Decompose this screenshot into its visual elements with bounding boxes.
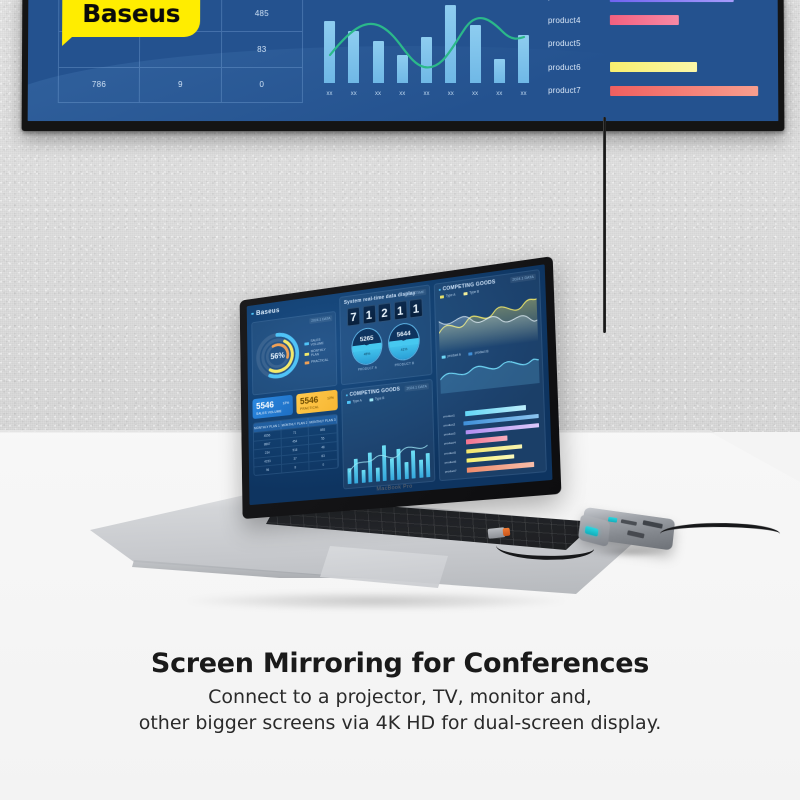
donut-value: 56%	[254, 328, 301, 383]
table-row: 78690	[58, 67, 303, 103]
hub-usb-port-small	[608, 517, 618, 523]
product-bar	[610, 86, 758, 96]
legend-label: MONTHLY PLAN	[311, 347, 334, 358]
hub-hdmi-port	[627, 530, 645, 538]
product-label: product4	[548, 16, 610, 25]
laptop-screen: Baseus	[247, 264, 553, 505]
kpi-card: 554612%PRACTICAL	[296, 390, 338, 415]
product-bar-track	[610, 15, 778, 25]
panel-badge: 2024.1 DATA	[309, 315, 332, 324]
baseus-wordmark: Baseus	[82, 0, 180, 28]
caption-line-1: Connect to a projector, TV, monitor and,	[208, 686, 592, 708]
product-bar-track	[610, 86, 778, 96]
kpi-section: 554612%SALES VOLUME554612%PRACTICAL MONT…	[252, 390, 339, 498]
legend-label: Type B	[375, 396, 385, 401]
cable-hub-to-tv	[660, 522, 780, 546]
realtime-gauges: 526545%PRODUCT A564441%PRODUCT B	[341, 320, 431, 374]
product-label: product5	[548, 39, 610, 48]
legend-label: Type A	[353, 399, 362, 404]
tv-screen: 3254858378690 Baseus xxxxxxxxxxxxxxxxxx …	[28, 0, 779, 121]
bullet-icon	[346, 394, 348, 396]
legend-item: Type B	[369, 396, 384, 402]
legend-item: PRACTICAL	[305, 357, 334, 364]
table-cell: 0	[222, 67, 303, 103]
hub-usb-a-slot	[642, 520, 662, 529]
bar-x-label: xx	[421, 91, 432, 97]
product-label: product1	[443, 412, 465, 418]
water-gauge: 526545%	[351, 326, 383, 367]
bar-x-label: xx	[324, 91, 335, 97]
donut-legend: SALES VOLUMEMONTHLY PLANPRACTICAL	[304, 336, 334, 364]
product-label: product6	[548, 63, 610, 72]
realtime-digit: 1	[362, 305, 376, 325]
hub-usb-port-lit	[585, 526, 599, 537]
laptop: Baseus	[70, 270, 670, 620]
product-label: product7	[548, 86, 610, 95]
product-bar-row: product3	[548, 0, 778, 9]
hub-card-slot	[621, 519, 637, 526]
table-cell: 83	[222, 32, 303, 67]
bar-x-label: xx	[470, 91, 481, 97]
tv-trend-line	[324, 0, 529, 83]
kpi-card: 554612%SALES VOLUME	[252, 395, 293, 419]
bullet-icon	[439, 288, 441, 290]
tv-product-bar-chart: product3product4product5product6product7	[548, 0, 778, 103]
gauge-widget: 526545%PRODUCT A	[351, 326, 383, 372]
product-label: product2	[444, 421, 464, 427]
product-label: product3	[444, 431, 466, 437]
product-bar-track	[610, 0, 778, 2]
legend-item: Type A	[347, 399, 362, 405]
product-bar	[467, 462, 534, 472]
realtime-data-panel: System real-time data display REAL-TIME …	[339, 284, 432, 385]
table-cell: 96	[254, 464, 282, 475]
product-bar-row: product6	[548, 56, 778, 80]
donut-chart: 56%	[254, 328, 301, 383]
realtime-digit: 1	[409, 298, 423, 318]
baseus-logo-badge: Baseus	[62, 0, 200, 37]
table-cell: 485	[222, 0, 303, 32]
product-label: product5	[444, 449, 466, 455]
table-cell	[140, 32, 221, 67]
product-bar-row: product5	[548, 32, 778, 55]
sales-donut-panel: 56% SALES VOLUMEMONTHLY PLANPRACTICAL 20…	[251, 311, 337, 396]
product-label: product4	[444, 440, 466, 446]
gauge-label: PRODUCT A	[352, 365, 383, 373]
caption-title: Screen Mirroring for Conferences	[0, 648, 800, 680]
bar-x-label: xx	[445, 91, 456, 97]
legend-label: PRACTICAL	[311, 358, 328, 364]
product-bar	[610, 0, 734, 2]
bar-x-label: xx	[397, 91, 408, 97]
competing-goods-right-panel: COMPETING GOODS 2024.1 DATA Type AType B	[434, 269, 547, 481]
table-cell: 9	[140, 67, 221, 103]
product-bar-row: product7	[548, 79, 778, 103]
realtime-digit: 1	[393, 300, 407, 320]
caption-body: Connect to a projector, TV, monitor and,…	[0, 684, 800, 736]
wall-mounted-tv: 3254858378690 Baseus xxxxxxxxxxxxxxxxxx …	[22, 0, 785, 131]
legend-swatch	[369, 398, 373, 401]
legend-swatch	[440, 295, 444, 298]
kpi-percent: 12%	[283, 401, 290, 406]
product-label: product3	[548, 0, 610, 1]
bar-x-label: xx	[494, 91, 505, 97]
table-cell: 786	[58, 67, 141, 103]
brand-dot-icon	[251, 313, 253, 316]
realtime-digit: 7	[347, 307, 360, 327]
legend-item: MONTHLY PLAN	[305, 347, 334, 358]
dashboard-brand-label: Baseus	[256, 307, 280, 317]
table-row: 83	[58, 32, 303, 67]
product-label: product6	[445, 459, 467, 465]
legend-swatch	[347, 400, 351, 403]
product-bar-row: product4	[548, 9, 778, 32]
gauge-widget: 564441%PRODUCT B	[388, 321, 421, 368]
monthly-plan-table: MONTHLY PLAN 1MONTHLY PLAN 2MONTHLY PLAN…	[253, 414, 339, 476]
table-cell: 0	[310, 459, 339, 470]
legend-label: SALES VOLUME	[310, 336, 333, 347]
gauge-label: PRODUCT B	[389, 360, 421, 368]
product-bar	[610, 15, 679, 25]
dashboard: Baseus	[247, 264, 553, 505]
product-bar-track	[610, 39, 778, 49]
product-bar-track	[610, 62, 778, 72]
product-label: product7	[445, 468, 467, 474]
product-bar	[610, 39, 714, 49]
legend-swatch	[442, 355, 446, 358]
legend-swatch	[469, 352, 473, 355]
competing-right-product-bars: product1product2product3product4product5…	[443, 402, 540, 477]
legend-swatch	[305, 352, 309, 355]
caption-line-2: other bigger screens via 4K HD for dual-…	[139, 712, 662, 734]
laptop-lid: Baseus	[240, 256, 562, 519]
product-marketing-image: 3254858378690 Baseus xxxxxxxxxxxxxxxxxx …	[0, 0, 800, 800]
legend-swatch	[304, 342, 308, 345]
competing-bottom-line	[347, 435, 430, 484]
bar-x-label: xx	[518, 91, 529, 97]
bar-x-label: xx	[348, 91, 359, 97]
tv-bezel: 3254858378690 Baseus xxxxxxxxxxxxxxxxxx …	[28, 0, 779, 121]
kpi-percent: 12%	[327, 396, 334, 401]
product-bar	[610, 62, 697, 72]
bar-x-label: xx	[372, 91, 383, 97]
table-cell: 8	[282, 461, 310, 472]
competing-goods-bottom-panel: COMPETING GOODS 2024.1 DATA Type AType B	[341, 379, 435, 490]
tv-bar-chart: xxxxxxxxxxxxxxxxxx	[324, 0, 529, 99]
legend-item: SALES VOLUME	[304, 336, 333, 347]
realtime-digit: 2	[378, 302, 392, 322]
caption-block: Screen Mirroring for Conferences Connect…	[0, 648, 800, 736]
legend-swatch	[305, 361, 310, 364]
water-gauge: 564441%	[388, 321, 421, 362]
legend-swatch	[463, 292, 467, 296]
